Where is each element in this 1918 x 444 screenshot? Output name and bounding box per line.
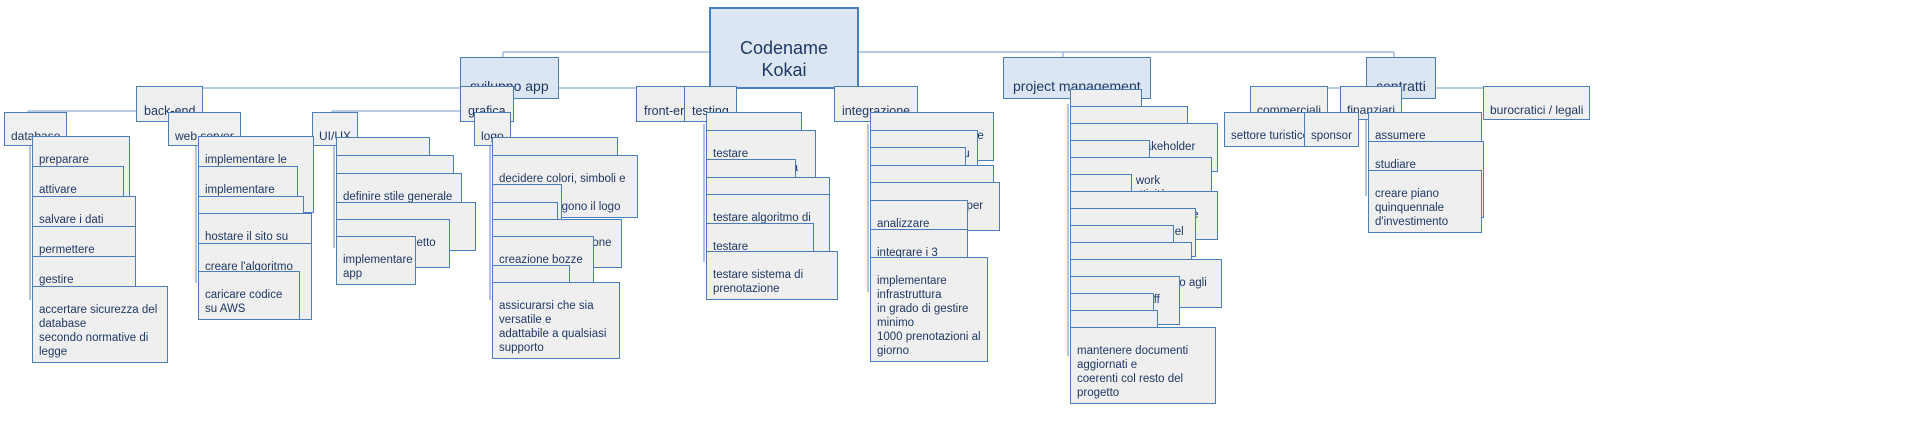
node-label: burocratici / legali [1490, 103, 1583, 117]
root-node[interactable]: Codename Kokai [709, 7, 859, 89]
leaf-item[interactable]: creare piano quinquennale d'investimento [1368, 170, 1482, 233]
leaf-label: sponsor [1311, 130, 1352, 142]
leaf-label: settore turistico [1231, 130, 1309, 142]
leaf-item[interactable]: implementare infrastruttura in grado di … [870, 257, 988, 362]
leaf-label: testare sistema di prenotazione [713, 269, 803, 295]
leaf-item[interactable]: accertare sicurezza del database secondo… [32, 286, 168, 363]
root-label: Codename Kokai [740, 38, 828, 80]
leaf-label: implementare app [343, 254, 413, 280]
leaf-item[interactable]: caricare codice su AWS [198, 271, 300, 320]
node-burocratici-legali[interactable]: burocratici / legali [1483, 86, 1590, 120]
leaf-label: caricare codice su AWS [205, 289, 282, 315]
leaf-item[interactable]: testare sistema di prenotazione [706, 251, 838, 300]
leaf-item[interactable]: implementare app [336, 236, 416, 285]
leaf-label: creare piano quinquennale d'investimento [1375, 188, 1448, 228]
leaf-label: assicurarsi che sia versatile e adattabi… [499, 300, 606, 354]
leaf-item[interactable]: mantenere documenti aggiornati e coerent… [1070, 327, 1216, 404]
mindmap-canvas: Codename Kokai sviluppo app project mana… [0, 0, 1918, 444]
leaf-label: mantenere documenti aggiornati e coerent… [1077, 345, 1188, 399]
leaf-item[interactable]: settore turistico [1224, 112, 1316, 147]
leaf-label: implementare infrastruttura in grado di … [877, 275, 981, 357]
leaf-item[interactable]: sponsor [1304, 112, 1359, 147]
leaf-label: accertare sicurezza del database secondo… [39, 304, 157, 358]
leaf-item[interactable]: assicurarsi che sia versatile e adattabi… [492, 282, 620, 359]
